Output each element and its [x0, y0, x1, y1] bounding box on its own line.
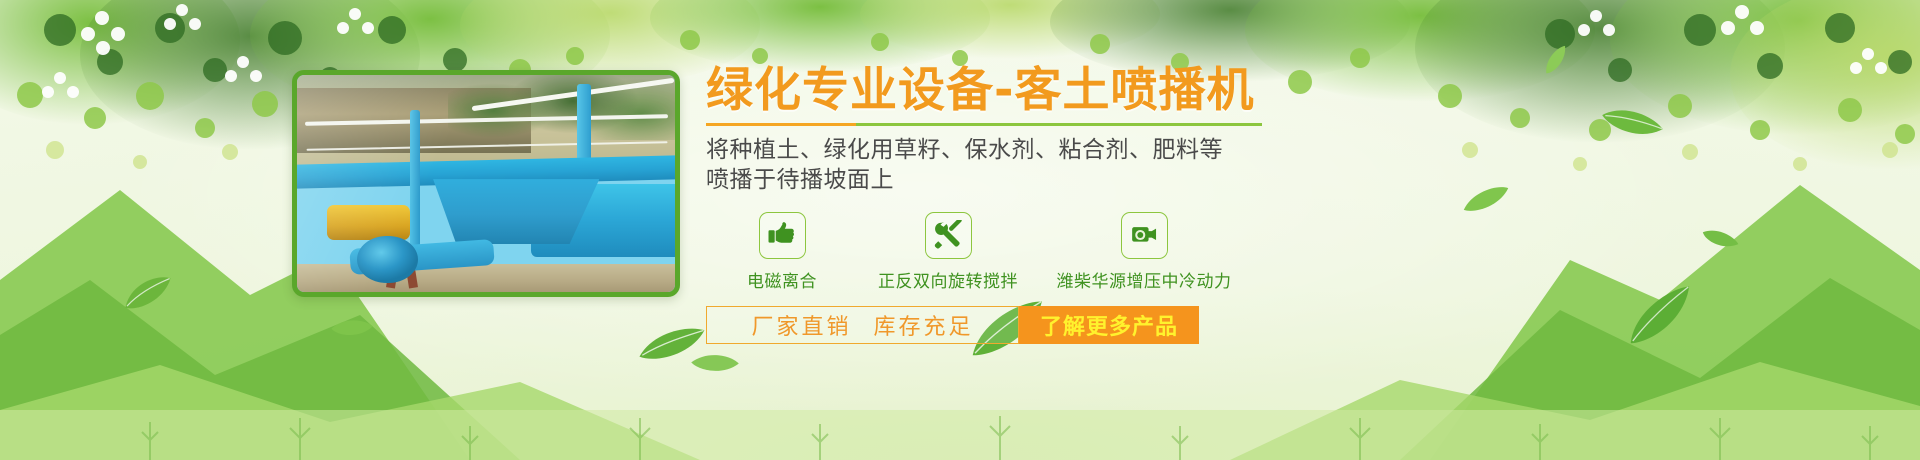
feature-label: 潍柴华源增压中冷动力 [1057, 267, 1232, 292]
floating-leaf-icon [1537, 42, 1575, 77]
product-photo-frame [292, 70, 680, 297]
feature-item-bidirectional-mixing: 正反双向旋转搅拌 [858, 212, 1038, 292]
tools-icon [925, 212, 972, 259]
feature-label: 正反双向旋转搅拌 [878, 267, 1018, 292]
title-divider [706, 123, 1262, 126]
thumbs-up-icon [759, 212, 806, 259]
page-title: 绿化专业设备-客土喷播机 [706, 66, 1406, 116]
product-photo [297, 75, 675, 292]
floating-leaf-icon [1458, 183, 1513, 215]
feature-item-electromagnetic-clutch: 电磁离合 [706, 212, 858, 292]
feature-list: 电磁离合 正反双向旋转搅拌 [706, 212, 1406, 292]
floating-leaf-icon [688, 346, 742, 381]
learn-more-button[interactable]: 了解更多产品 [1019, 306, 1199, 344]
tag-ample-stock: 库存充足 [874, 309, 974, 341]
tag-factory-direct: 厂家直销 [751, 309, 851, 341]
floating-leaf-icon [634, 325, 709, 363]
feature-item-weichai-power: 潍柴华源增压中冷动力 [1038, 212, 1250, 292]
subtitle-line-2: 喷播于待播坡面上 [706, 165, 1406, 196]
subtitle-line-1: 将种植土、绿化用草籽、保水剂、粘合剂、肥料等 [706, 135, 1406, 166]
floating-leaf-icon [328, 314, 375, 343]
promo-banner: 绿化专业设备-客土喷播机 将种植土、绿化用草籽、保水剂、粘合剂、肥料等 喷播于待… [0, 0, 1920, 460]
subtitle: 将种植土、绿化用草籽、保水剂、粘合剂、肥料等 喷播于待播坡面上 [706, 135, 1406, 196]
feature-label: 电磁离合 [747, 267, 817, 292]
cta-row: 厂家直销 库存充足 了解更多产品 [706, 306, 1199, 344]
floating-leaf-icon [1698, 220, 1741, 257]
floating-leaf-icon [1598, 96, 1667, 149]
floating-leaf-icon [117, 272, 178, 314]
floating-leaf-icon [1616, 281, 1705, 351]
engine-icon [1121, 212, 1168, 259]
selling-point-tags: 厂家直销 库存充足 [706, 306, 1019, 344]
photo-gloss-overlay [297, 75, 675, 292]
banner-content: 绿化专业设备-客土喷播机 将种植土、绿化用草籽、保水剂、粘合剂、肥料等 喷播于待… [706, 66, 1406, 344]
